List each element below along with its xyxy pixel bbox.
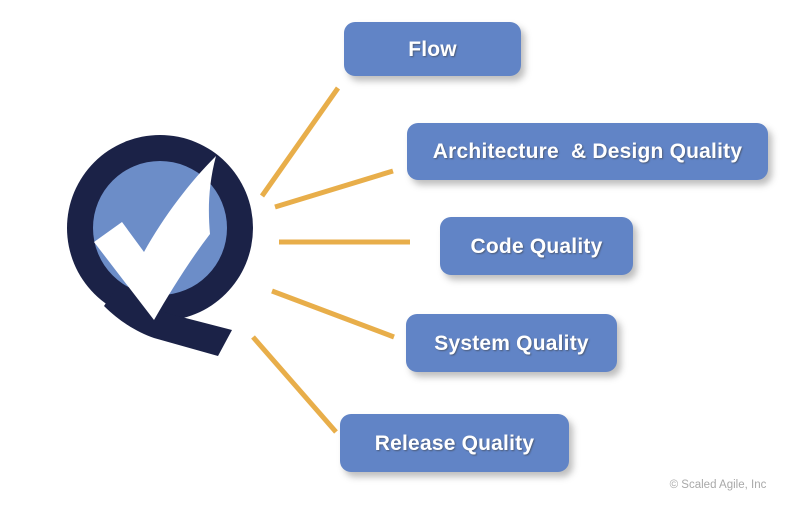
node-release-quality[interactable]: Release Quality	[340, 414, 569, 472]
diagram-canvas: Flow Architecture & Design Quality Code …	[0, 0, 800, 521]
node-architecture-design-quality[interactable]: Architecture & Design Quality	[407, 123, 768, 180]
connector-line-flow	[262, 88, 338, 196]
node-flow-label: Flow	[408, 39, 457, 60]
copyright-notice: © Scaled Agile, Inc	[648, 479, 788, 491]
node-system-quality-label: System Quality	[434, 333, 589, 354]
node-release-quality-label: Release Quality	[375, 433, 534, 454]
node-flow[interactable]: Flow	[344, 22, 521, 76]
quality-q-logo	[58, 124, 268, 372]
node-code-quality[interactable]: Code Quality	[440, 217, 633, 275]
node-system-quality[interactable]: System Quality	[406, 314, 617, 372]
connector-line-system	[272, 291, 394, 337]
node-code-quality-label: Code Quality	[471, 236, 603, 257]
node-architecture-design-quality-label: Architecture & Design Quality	[433, 141, 742, 162]
connector-line-arch	[275, 171, 393, 207]
